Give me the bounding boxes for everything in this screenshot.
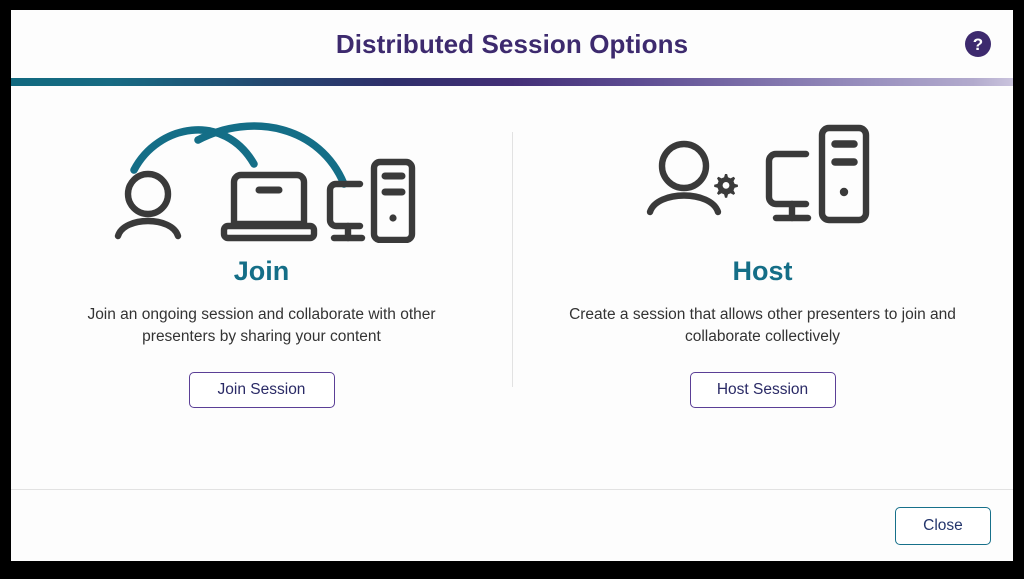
monitor-screen — [330, 184, 360, 226]
arc-person-to-laptop — [134, 130, 254, 170]
monitor-screen — [769, 154, 806, 204]
panel-join: Join Join an ongoing session and collabo… — [11, 86, 512, 489]
person-head — [662, 144, 706, 188]
panel-host: Host Create a session that allows other … — [512, 86, 1013, 489]
host-illustration — [638, 108, 888, 243]
accent-gradient-bar — [11, 78, 1013, 86]
person-shoulders — [650, 196, 718, 213]
panel-host-heading: Host — [733, 256, 793, 287]
dialog-footer: Close — [11, 489, 1013, 561]
panel-host-description: Create a session that allows other prese… — [563, 304, 963, 348]
person-laptop-desktop-connected-icon — [102, 108, 422, 243]
help-circle-icon[interactable]: ? — [964, 30, 992, 58]
gear-badge-icon — [714, 174, 738, 198]
laptop-screen — [234, 175, 304, 224]
tower-power-dot — [389, 214, 396, 221]
tower-power-dot — [839, 188, 847, 196]
dialog-titlebar: Distributed Session Options ? — [11, 10, 1013, 78]
person-shoulders — [118, 221, 178, 236]
host-session-button[interactable]: Host Session — [690, 372, 836, 408]
join-illustration — [102, 108, 422, 243]
distributed-session-options-dialog: Distributed Session Options ? — [11, 10, 1013, 561]
help-glyph: ? — [973, 35, 983, 54]
laptop-base — [224, 226, 314, 238]
close-button[interactable]: Close — [895, 507, 991, 545]
person-gear-desktop-icon — [638, 108, 888, 243]
join-session-button[interactable]: Join Session — [189, 372, 335, 408]
person-head — [128, 174, 168, 214]
page-title: Distributed Session Options — [336, 29, 688, 60]
panel-join-heading: Join — [234, 256, 290, 287]
panel-join-description: Join an ongoing session and collaborate … — [62, 304, 462, 348]
panel-divider — [512, 132, 513, 387]
dialog-body: Join Join an ongoing session and collabo… — [11, 86, 1013, 489]
